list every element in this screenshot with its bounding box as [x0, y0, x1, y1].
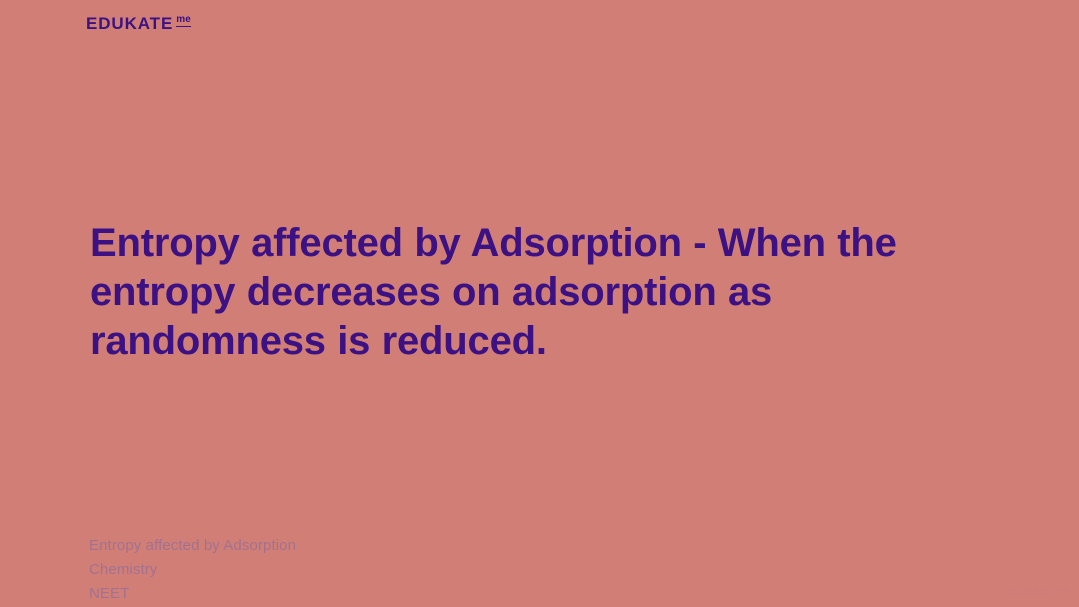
slide-footer: Entropy affected by Adsorption Chemistry…	[89, 534, 296, 606]
brand-logo-superscript: me	[176, 15, 191, 27]
footer-subject: Chemistry	[89, 558, 296, 582]
footer-exam: NEET	[89, 582, 296, 606]
slide-heading: Entropy affected by Adsorption - When th…	[90, 219, 980, 366]
slide-canvas: EDUKATE me Entropy affected by Adsorptio…	[0, 0, 1079, 607]
brand-logo-wordmark: EDUKATE	[86, 15, 173, 32]
brand-logo[interactable]: EDUKATE me	[86, 15, 191, 32]
footer-topic: Entropy affected by Adsorption	[89, 534, 296, 558]
corner-watermark: edukate.me	[1007, 585, 1070, 597]
